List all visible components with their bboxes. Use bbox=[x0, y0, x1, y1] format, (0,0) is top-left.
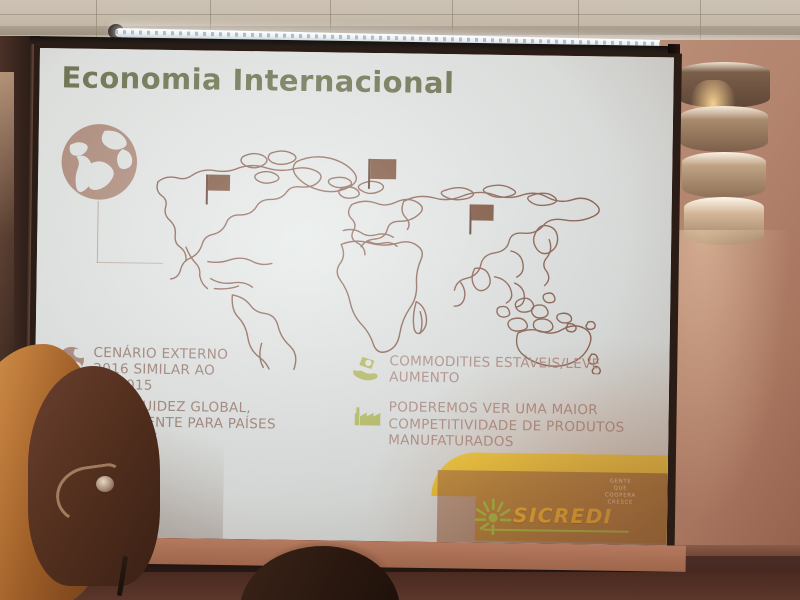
bullet-item: PODEREMOS VER UMA MAIOR COMPETITIVIDADE … bbox=[352, 399, 643, 452]
bullet-text: COMMODITIES ESTÁVEIS/LEVE AUMENTO bbox=[389, 353, 600, 389]
globe-icon bbox=[58, 120, 141, 203]
brand-logo: GENTE QUE COOPERA CRESCE bbox=[437, 470, 668, 545]
world-map-outline bbox=[143, 138, 616, 375]
page-title: Economia Internacional bbox=[61, 60, 454, 100]
bullet-item: COMMODITIES ESTÁVEIS/LEVE AUMENTO bbox=[353, 353, 643, 390]
factory-icon bbox=[352, 400, 380, 428]
sconce-light-wash bbox=[664, 230, 794, 530]
brand-wordmark: SICREDI bbox=[513, 503, 613, 528]
hand-money-icon bbox=[353, 354, 381, 382]
conference-room-scene: Economia Internacional bbox=[0, 0, 800, 600]
globe-connector-line bbox=[97, 201, 99, 263]
bullet-column-right: COMMODITIES ESTÁVEIS/LEVE AUMENTO bbox=[352, 353, 643, 456]
eyeglasses-lens bbox=[96, 476, 114, 492]
logo-tagline: GENTE QUE COOPERA CRESCE bbox=[597, 478, 643, 507]
bullet-text: PODEREMOS VER UMA MAIOR COMPETITIVIDADE … bbox=[388, 400, 625, 452]
